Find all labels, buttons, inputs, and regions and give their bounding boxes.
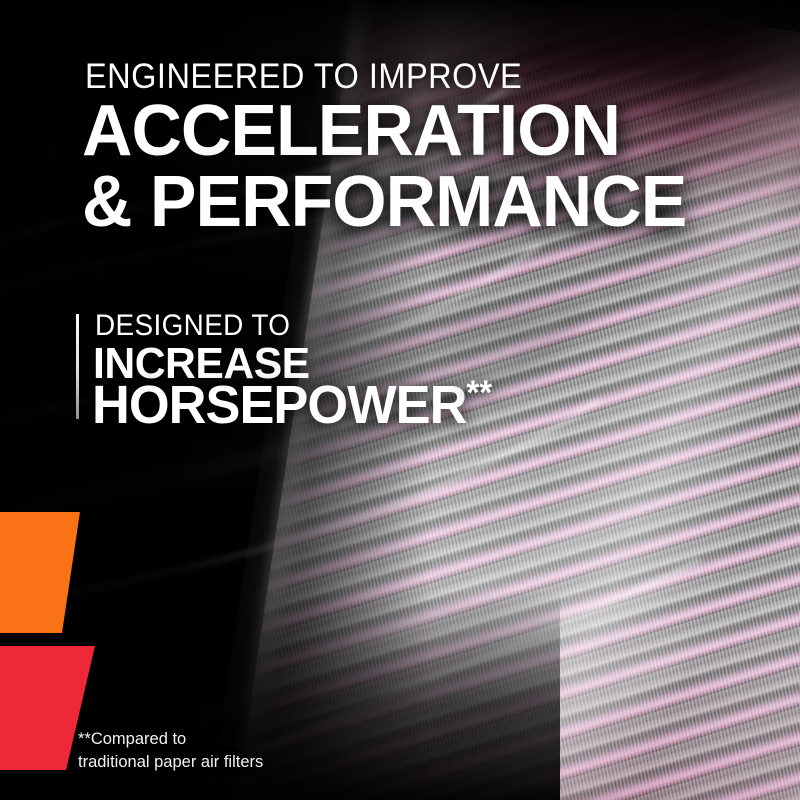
- main-headline-line-2: & PERFORMANCE: [82, 167, 686, 238]
- sub-headline-horsepower: HORSEPOWER**: [92, 374, 492, 436]
- orange-chevron-shape: [0, 506, 110, 638]
- main-headline-line-1: ACCELERATION: [82, 96, 686, 167]
- footnote-line-2: traditional paper air filters: [78, 751, 263, 774]
- footnote-disclaimer: **Compared to traditional paper air filt…: [78, 728, 263, 774]
- footnote-line-1: **Compared to: [78, 728, 263, 751]
- vertical-accent-rule: [76, 314, 79, 419]
- horsepower-footnote-marker: **: [466, 374, 492, 412]
- main-headline: ACCELERATION & PERFORMANCE: [82, 96, 686, 237]
- banner-canvas: ENGINEERED TO IMPROVE ACCELERATION & PER…: [0, 0, 800, 800]
- sub-eyebrow-text: DESIGNED TO: [95, 309, 290, 343]
- sub-headline-horsepower-text: HORSEPOWER: [92, 375, 466, 435]
